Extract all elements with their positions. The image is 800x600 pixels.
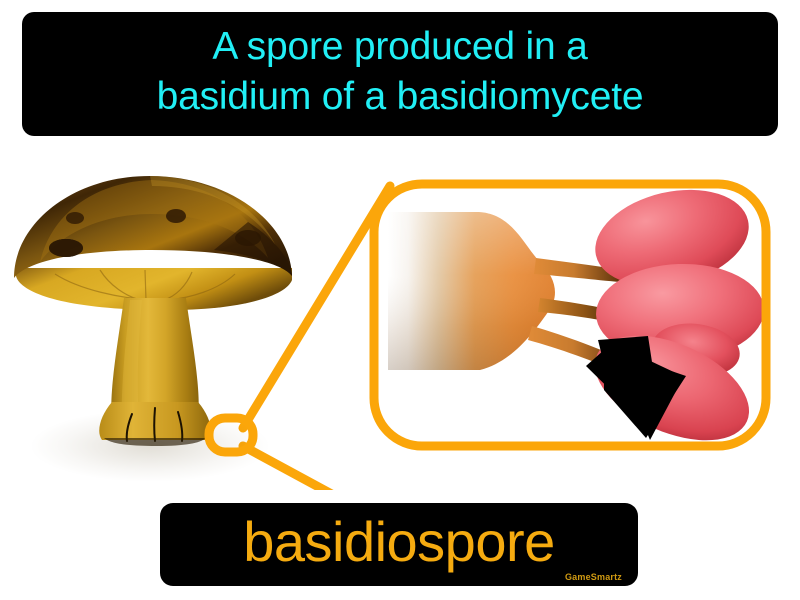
term-label: basidiospore: [243, 512, 555, 572]
cap-spot: [49, 239, 83, 257]
cap-spot: [235, 230, 261, 246]
watermark-label: GameSmartz: [565, 572, 622, 582]
definition-banner: A spore produced in a basidium of a basi…: [22, 12, 778, 136]
cap-spot: [166, 209, 186, 223]
infographic-card: A spore produced in a basidium of a basi…: [0, 0, 800, 600]
illustration-area: [0, 150, 800, 490]
term-label-box: basidiospore GameSmartz: [160, 503, 638, 586]
cap-spot: [66, 212, 84, 224]
magnifier-callout: [374, 176, 766, 462]
definition-text: A spore produced in a basidium of a basi…: [157, 22, 644, 122]
basidiospore-diagram: [0, 150, 800, 490]
